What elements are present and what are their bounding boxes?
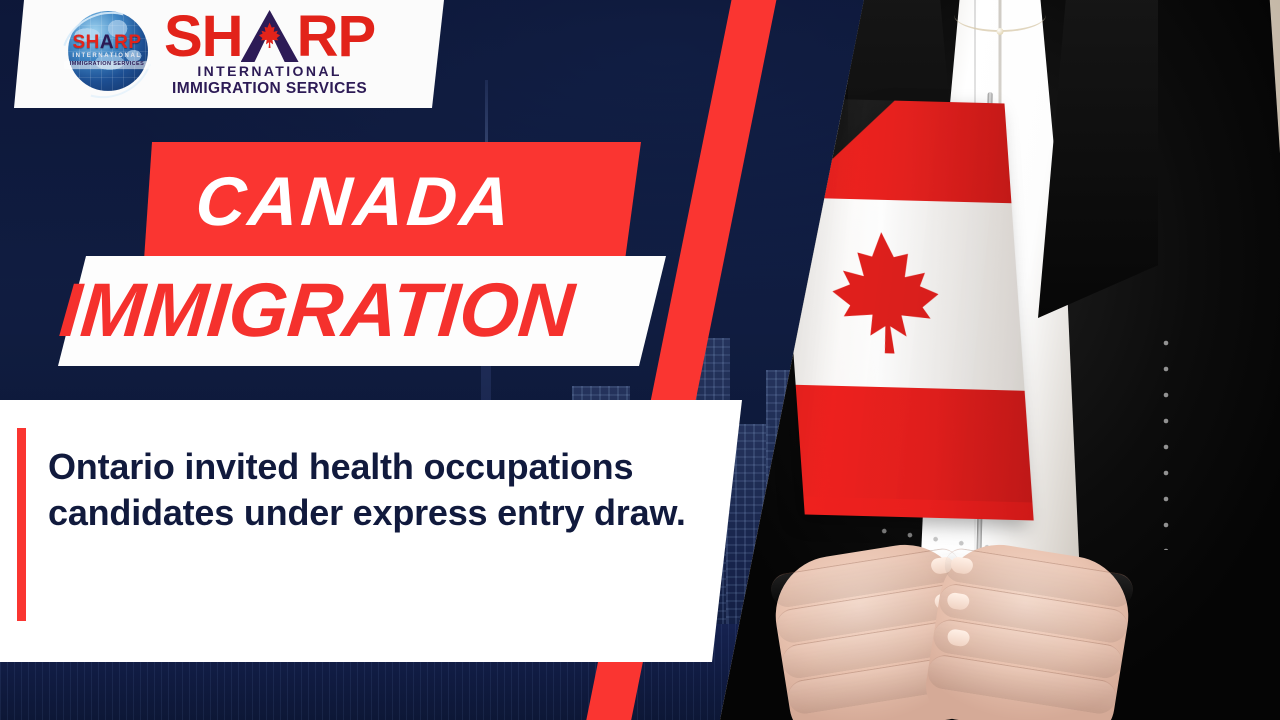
- fingernail: [946, 592, 970, 611]
- globe-tagline-1: INTERNATIONAL: [64, 52, 150, 61]
- necklace-pendant: [997, 28, 1004, 35]
- headline-text: Ontario invited health occupations candi…: [48, 444, 698, 537]
- globe-brand-a: A: [100, 32, 114, 53]
- wordmark-letter-a-triangle: [241, 10, 299, 62]
- wordmark-tagline-1: INTERNATIONAL: [197, 63, 342, 79]
- brand-wordmark: SH RP INTERNATIONAL IMMIGRATION SERVICES: [164, 10, 375, 98]
- wordmark-part-1: SH: [164, 12, 243, 62]
- brand-logo-panel[interactable]: SHARP INTERNATIONAL IMMIGRATION SERVICES…: [14, 0, 444, 108]
- wordmark-main: SH RP: [164, 10, 375, 62]
- globe-logo-text: SHARP INTERNATIONAL IMMIGRATION SERVICES: [64, 33, 150, 69]
- globe-logo-icon: SHARP INTERNATIONAL IMMIGRATION SERVICES: [60, 7, 154, 101]
- title-band-canada: CANADA: [0, 142, 660, 260]
- wordmark-part-2: RP: [297, 12, 376, 62]
- globe-brand-text: SHARP: [64, 33, 150, 52]
- fingernail: [946, 628, 970, 647]
- wordmark-tagline-2: IMMIGRATION SERVICES: [172, 80, 367, 98]
- title-line-2: IMMIGRATION: [57, 273, 577, 349]
- fingernail: [950, 556, 974, 575]
- poster-canvas: SHARP INTERNATIONAL IMMIGRATION SERVICES…: [0, 0, 1280, 720]
- title-line-1: CANADA: [193, 167, 516, 236]
- globe-tagline-2: IMMIGRATION SERVICES: [64, 61, 150, 69]
- headline-accent-bar: [17, 428, 26, 621]
- blazer-stud-trim: [1160, 330, 1172, 550]
- title-band-immigration: IMMIGRATION: [0, 256, 700, 366]
